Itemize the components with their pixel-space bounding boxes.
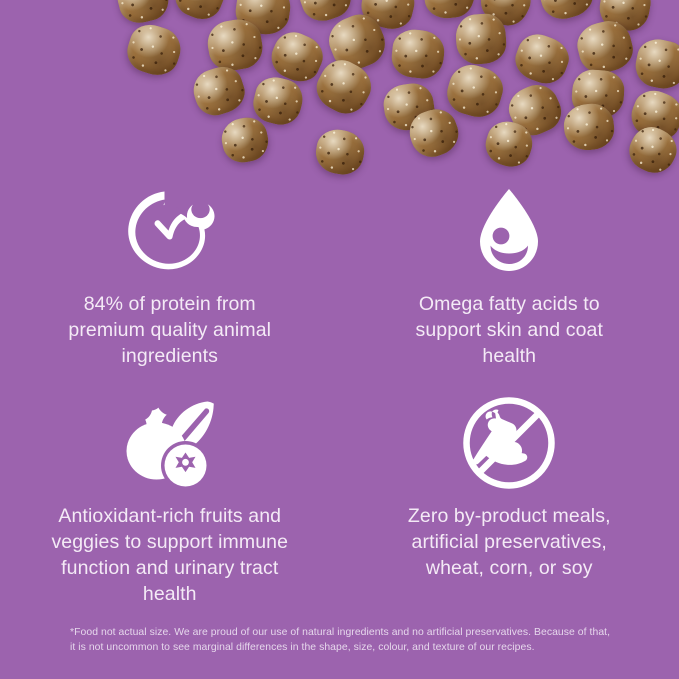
- kibble-piece: [122, 19, 186, 81]
- kibble-piece: [113, 0, 173, 27]
- feature-text: Antioxidant-rich fruits and veggies to s…: [50, 503, 290, 607]
- kibble-piece: [188, 61, 250, 120]
- feature-item-protein: 84% of protein from premium quality anim…: [0, 185, 340, 369]
- feature-item-antioxidants: Antioxidant-rich fruits and veggies to s…: [0, 397, 340, 607]
- footnote-disclaimer: *Food not actual size. We are proud of o…: [70, 626, 615, 656]
- kibble-piece: [218, 114, 272, 167]
- feature-text: 84% of protein from premium quality anim…: [50, 291, 290, 369]
- oil-droplet-icon: [461, 185, 557, 277]
- feature-item-no-byproducts: Zero by-product meals, artificial preser…: [340, 397, 679, 607]
- product-feature-panel: 84% of protein from premium quality anim…: [0, 0, 679, 679]
- kibble-photo-band: [0, 0, 679, 190]
- kibble-piece: [313, 126, 368, 178]
- kibble-piece: [510, 28, 575, 89]
- feature-item-omega: Omega fatty acids to support skin and co…: [340, 185, 679, 369]
- feature-text: Zero by-product meals, artificial preser…: [389, 503, 629, 581]
- kibble-piece: [442, 60, 508, 123]
- meat-cut-icon: [122, 185, 218, 277]
- kibble-piece: [534, 0, 597, 24]
- fruits-veggies-icon: [122, 397, 218, 489]
- no-byproduct-icon: [461, 397, 557, 489]
- kibble-piece: [632, 35, 679, 92]
- feature-text: Omega fatty acids to support skin and co…: [389, 291, 629, 369]
- kibble-piece: [454, 12, 507, 65]
- feature-grid: 84% of protein from premium quality anim…: [0, 185, 679, 607]
- kibble-piece: [390, 27, 447, 80]
